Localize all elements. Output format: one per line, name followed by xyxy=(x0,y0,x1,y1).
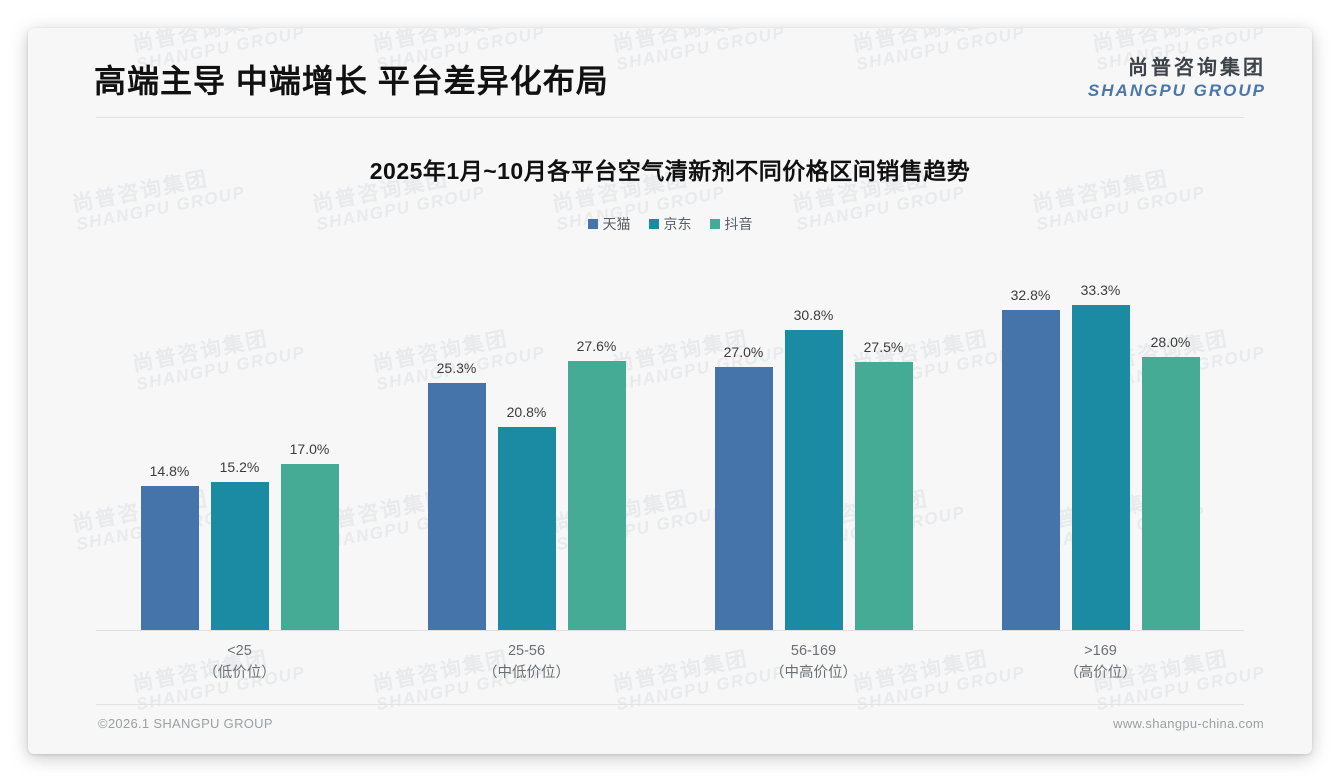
x-axis-tick-label: <25（低价位） xyxy=(96,640,383,685)
brand-logo: 尚普咨询集团 SHANGPU GROUP xyxy=(1088,56,1266,101)
chart-legend: 天猫京东抖音 xyxy=(28,214,1312,234)
bar-value-label: 27.6% xyxy=(577,338,617,354)
bar-value-label: 30.8% xyxy=(794,307,834,323)
bar-rect[interactable] xyxy=(855,362,913,630)
x-axis-tick-label: 25-56（中低价位） xyxy=(383,640,670,685)
bar-rect[interactable] xyxy=(281,464,339,630)
legend-swatch-icon xyxy=(710,219,720,229)
bar-rect[interactable] xyxy=(498,427,556,630)
footer-copyright: ©2026.1 SHANGPU GROUP xyxy=(98,716,273,731)
x-axis-tick-label: >169（高价位） xyxy=(957,640,1244,685)
x-tick-range: <25 xyxy=(227,643,252,659)
bar-group: 32.8%33.3%28.0% xyxy=(957,240,1244,630)
legend-swatch-icon xyxy=(649,219,659,229)
bar-rect[interactable] xyxy=(141,486,199,630)
legend-label: 天猫 xyxy=(603,214,631,234)
slide-canvas: 尚普咨询集团SHANGPU GROUP尚普咨询集团SHANGPU GROUP尚普… xyxy=(28,28,1312,754)
bar-value-label: 15.2% xyxy=(220,459,260,475)
bar-value-label: 33.3% xyxy=(1081,282,1121,298)
bar-column[interactable]: 27.6% xyxy=(568,240,626,630)
bar-column[interactable]: 25.3% xyxy=(428,240,486,630)
bar-column[interactable]: 30.8% xyxy=(785,240,843,630)
bar-rect[interactable] xyxy=(1002,310,1060,630)
logo-chinese-text: 尚普咨询集团 xyxy=(1088,56,1266,80)
bar-column[interactable]: 20.8% xyxy=(498,240,556,630)
bar-value-label: 17.0% xyxy=(290,441,330,457)
legend-item-2[interactable]: 京东 xyxy=(649,214,692,234)
footer-divider xyxy=(96,704,1244,705)
bar-rect[interactable] xyxy=(1072,305,1130,630)
slide-header: 高端主导 中端增长 平台差异化布局 尚普咨询集团 SHANGPU GROUP xyxy=(28,28,1312,118)
bar-column[interactable]: 33.3% xyxy=(1072,240,1130,630)
bar-value-label: 14.8% xyxy=(150,463,190,479)
x-tick-range: 56-169 xyxy=(791,643,836,659)
bar-value-label: 25.3% xyxy=(437,360,477,376)
footer-website[interactable]: www.shangpu-china.com xyxy=(1113,716,1264,731)
bar-column[interactable]: 27.0% xyxy=(715,240,773,630)
bar-value-label: 20.8% xyxy=(507,404,547,420)
bar-column[interactable]: 17.0% xyxy=(281,240,339,630)
x-tick-sublabel: （中高价位） xyxy=(670,662,957,684)
header-divider xyxy=(96,117,1244,118)
legend-label: 京东 xyxy=(664,214,692,234)
x-axis-tick-label: 56-169（中高价位） xyxy=(670,640,957,685)
bar-column[interactable]: 32.8% xyxy=(1002,240,1060,630)
legend-item-3[interactable]: 抖音 xyxy=(710,214,753,234)
legend-swatch-icon xyxy=(588,219,598,229)
bar-column[interactable]: 28.0% xyxy=(1142,240,1200,630)
bar-rect[interactable] xyxy=(428,383,486,630)
legend-label: 抖音 xyxy=(725,214,753,234)
page-title: 高端主导 中端增长 平台差异化布局 xyxy=(94,56,609,102)
bar-column[interactable]: 27.5% xyxy=(855,240,913,630)
x-tick-sublabel: （高价位） xyxy=(957,662,1244,684)
bar-group: 14.8%15.2%17.0% xyxy=(96,240,383,630)
bar-column[interactable]: 15.2% xyxy=(211,240,269,630)
legend-item-1[interactable]: 天猫 xyxy=(588,214,631,234)
bar-value-label: 32.8% xyxy=(1011,287,1051,303)
chart-plot-area: 14.8%15.2%17.0%25.3%20.8%27.6%27.0%30.8%… xyxy=(96,240,1244,630)
x-tick-range: 25-56 xyxy=(508,643,545,659)
bar-rect[interactable] xyxy=(211,482,269,630)
bar-group: 27.0%30.8%27.5% xyxy=(670,240,957,630)
bar-rect[interactable] xyxy=(715,367,773,630)
bar-group: 25.3%20.8%27.6% xyxy=(383,240,670,630)
logo-english-text: SHANGPU GROUP xyxy=(1088,80,1266,101)
chart-title: 2025年1月~10月各平台空气清新剂不同价格区间销售趋势 xyxy=(28,152,1312,186)
bar-value-label: 27.0% xyxy=(724,344,764,360)
x-tick-range: >169 xyxy=(1084,643,1117,659)
x-axis-line xyxy=(96,630,1244,631)
bar-rect[interactable] xyxy=(568,361,626,630)
bar-column[interactable]: 14.8% xyxy=(141,240,199,630)
bar-value-label: 28.0% xyxy=(1151,334,1191,350)
bar-value-label: 27.5% xyxy=(864,339,904,355)
x-tick-sublabel: （中低价位） xyxy=(383,662,670,684)
bar-rect[interactable] xyxy=(1142,357,1200,630)
x-tick-sublabel: （低价位） xyxy=(96,662,383,684)
bar-rect[interactable] xyxy=(785,330,843,630)
